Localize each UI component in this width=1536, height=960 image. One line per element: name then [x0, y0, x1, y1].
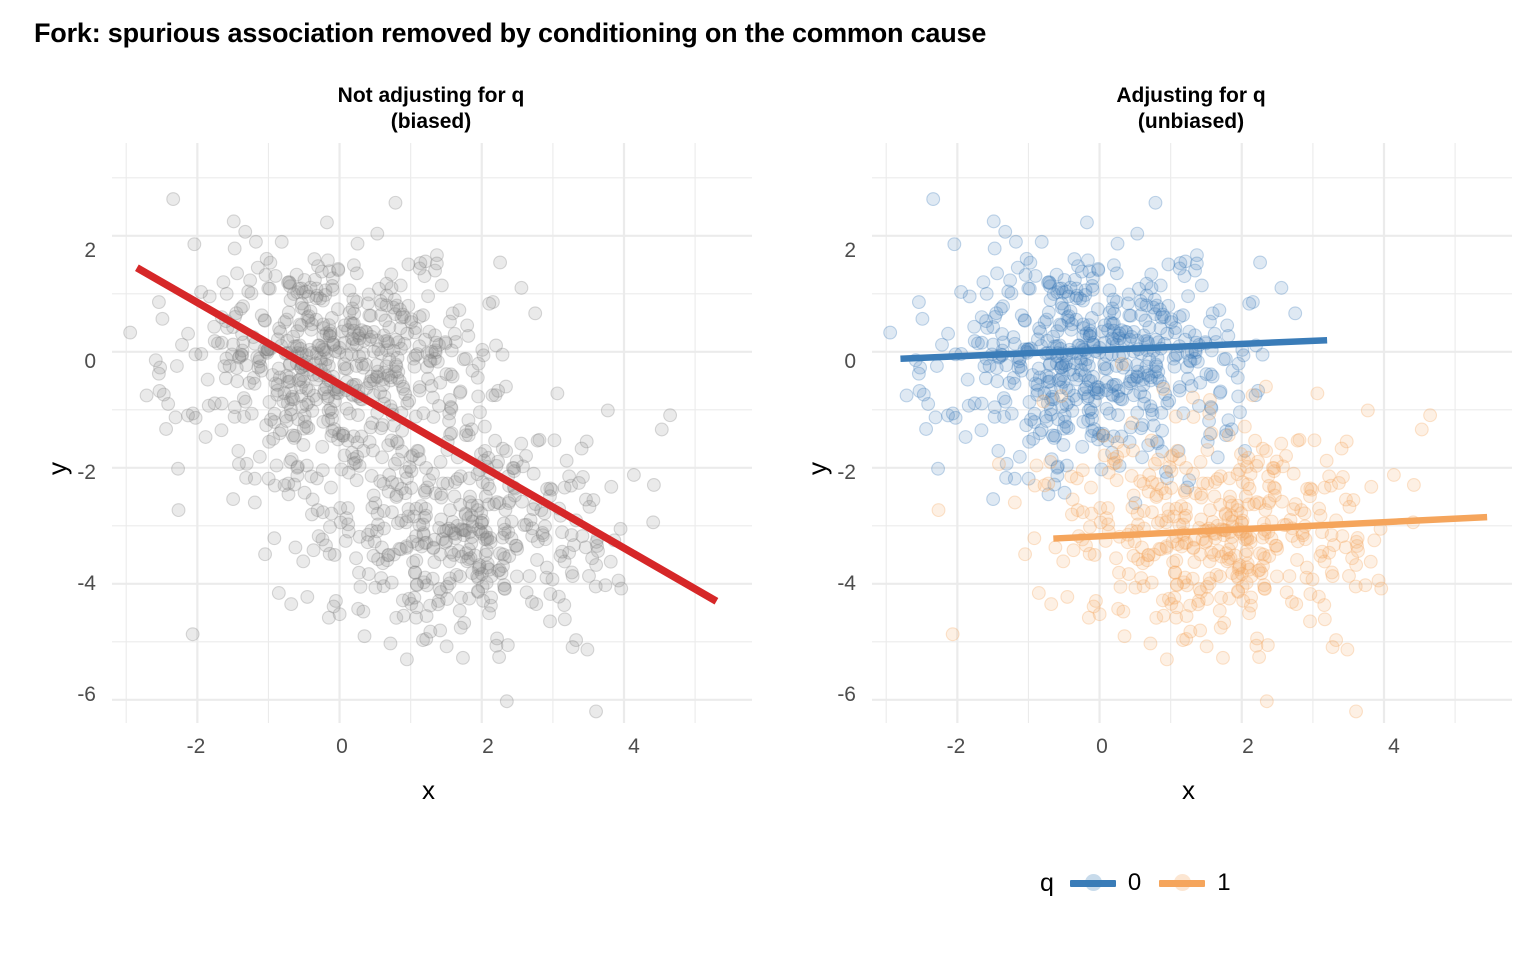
x-tick-right-2: 2: [1223, 735, 1273, 759]
y-tick-right-2: -2: [808, 461, 856, 485]
legend-title: q: [1040, 869, 1054, 898]
legend-key-1-icon: [1159, 868, 1205, 898]
panel-title-left: Not adjusting for q (biased): [112, 83, 750, 136]
scatter-plot-left: [112, 143, 752, 723]
legend-label-1: 1: [1217, 869, 1230, 897]
x-tick-right-3: 4: [1369, 735, 1419, 759]
y-tick-right-1: 0: [808, 350, 856, 374]
figure-title: Fork: spurious association removed by co…: [34, 18, 986, 49]
y-tick-left-2: -2: [48, 461, 96, 485]
y-tick-right-0: 2: [808, 239, 856, 263]
legend-label-0: 0: [1128, 869, 1141, 897]
scatter-plot-right: [872, 143, 1512, 723]
x-axis-label-left: x: [422, 775, 435, 806]
x-tick-right-0: -2: [931, 735, 981, 759]
legend-item-1[interactable]: 1: [1159, 868, 1230, 898]
legend-key-0-icon: [1070, 868, 1116, 898]
x-tick-left-1: 0: [317, 735, 367, 759]
y-tick-right-3: -4: [808, 572, 856, 596]
y-tick-left-3: -4: [48, 572, 96, 596]
y-tick-right-4: -6: [808, 683, 856, 707]
x-tick-left-2: 2: [463, 735, 513, 759]
panel-title-right: Adjusting for q (unbiased): [872, 83, 1510, 136]
y-tick-left-0: 2: [48, 239, 96, 263]
x-tick-left-0: -2: [171, 735, 221, 759]
y-tick-left-4: -6: [48, 683, 96, 707]
legend-item-0[interactable]: 0: [1070, 868, 1141, 898]
x-tick-left-3: 4: [609, 735, 659, 759]
figure-root: Fork: spurious association removed by co…: [0, 0, 1536, 960]
x-tick-right-1: 0: [1077, 735, 1127, 759]
legend: q 0 1: [1040, 862, 1249, 904]
x-axis-label-right: x: [1182, 775, 1195, 806]
y-tick-left-1: 0: [48, 350, 96, 374]
